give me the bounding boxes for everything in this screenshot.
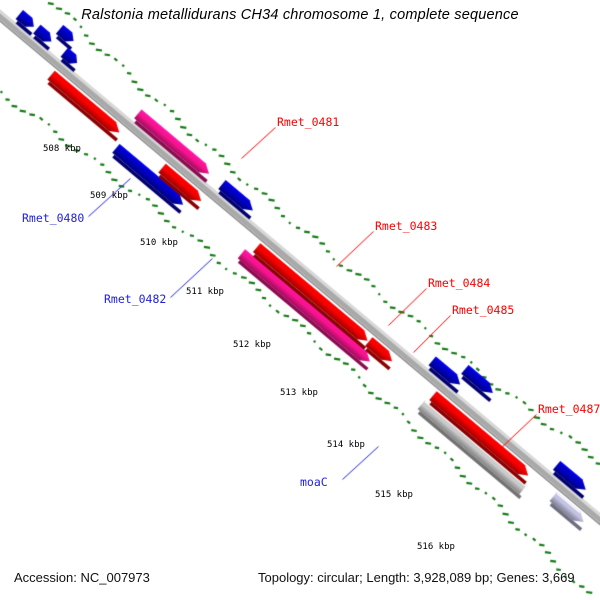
gene-label-moac[interactable]: moaC — [300, 475, 328, 489]
axis-tick-label: 514 kbp — [327, 440, 365, 450]
gene-label-rmet_0480[interactable]: Rmet_0480 — [22, 211, 84, 225]
axis-tick-label: 515 kbp — [375, 490, 413, 500]
gene-label-rmet_0484[interactable]: Rmet_0484 — [428, 276, 490, 290]
axis-tick-label: 511 kbp — [186, 287, 224, 297]
gene-label-rmet_0487[interactable]: Rmet_0487 — [538, 402, 600, 416]
genome-map-canvas[interactable] — [0, 0, 600, 600]
genome-map-viewer: Ralstonia metallidurans CH34 chromosome … — [0, 0, 600, 600]
gene-label-rmet_0481[interactable]: Rmet_0481 — [277, 115, 339, 129]
axis-tick-label: 512 kbp — [233, 340, 271, 350]
axis-tick-label: 508 kbp — [43, 144, 81, 154]
genome-summary-status: Topology: circular; Length: 3,928,089 bp… — [258, 570, 575, 585]
gene-label-rmet_0482[interactable]: Rmet_0482 — [104, 292, 166, 306]
accession-status: Accession: NC_007973 — [14, 570, 150, 585]
gene-label-rmet_0483[interactable]: Rmet_0483 — [375, 219, 437, 233]
axis-tick-label: 510 kbp — [140, 238, 178, 248]
gene-label-rmet_0485[interactable]: Rmet_0485 — [452, 303, 514, 317]
axis-tick-label: 513 kbp — [280, 388, 318, 398]
axis-tick-label: 509 kbp — [90, 191, 128, 201]
axis-tick-label: 516 kbp — [417, 542, 455, 552]
